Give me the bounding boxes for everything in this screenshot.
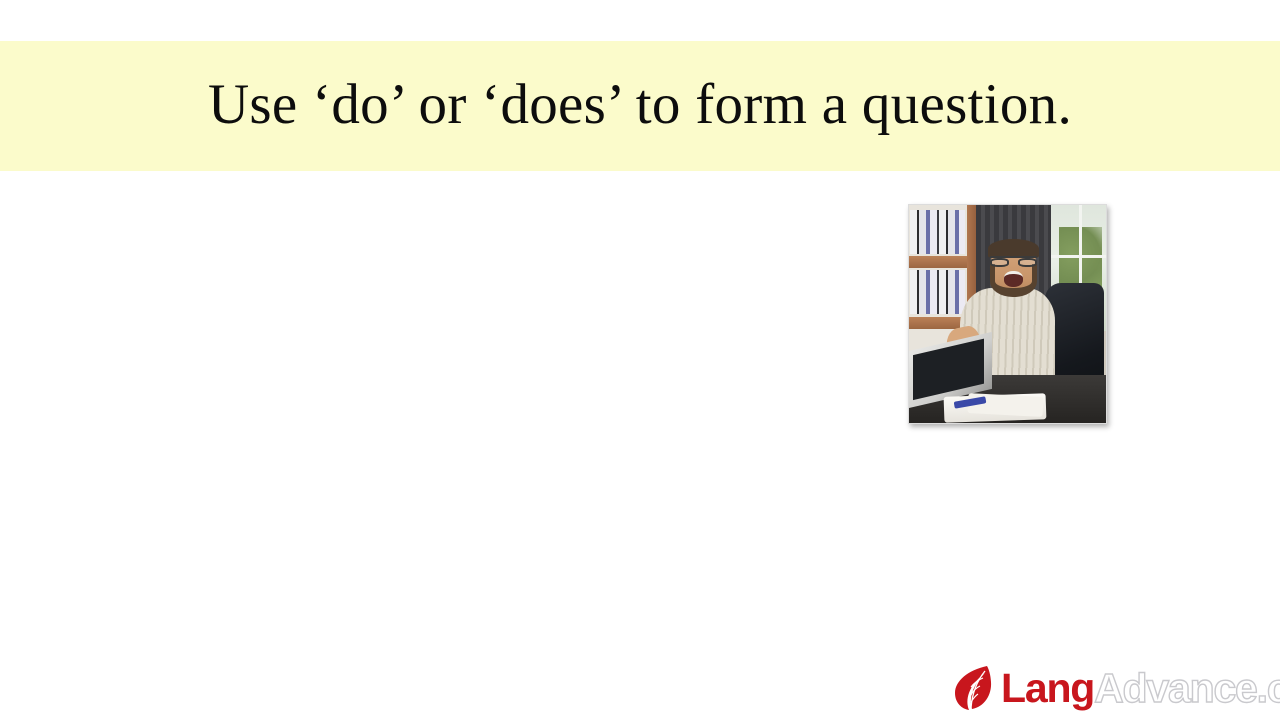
instructor-photo — [908, 204, 1107, 424]
photo-binders-row-bottom — [910, 270, 965, 314]
photo-person-glasses — [990, 256, 1037, 267]
photo-window-mullion-horizontal — [1051, 255, 1106, 258]
leaf-icon — [952, 664, 994, 712]
logo-brand-primary: Lang — [1001, 668, 1094, 709]
brand-logo[interactable]: Lang Advance.com udemy — [952, 662, 1280, 714]
logo-wordmark: Lang Advance.com udemy — [1001, 668, 1280, 709]
photo-glasses-lens-right — [1018, 258, 1037, 267]
photo-shelf-board-upper — [909, 256, 976, 268]
title-banner: Use ‘do’ or ‘does’ to form a question. — [0, 41, 1280, 171]
photo-laptop-screen — [913, 338, 984, 400]
logo-brand-secondary: Advance.com — [1094, 668, 1280, 709]
photo-person-mouth — [1004, 271, 1024, 286]
photo-scene — [909, 205, 1106, 423]
photo-binders-row-top — [910, 210, 965, 254]
slide-root: Use ‘do’ or ‘does’ to form a question. — [0, 0, 1280, 720]
photo-glasses-lens-left — [990, 258, 1009, 267]
page-title: Use ‘do’ or ‘does’ to form a question. — [208, 76, 1072, 133]
